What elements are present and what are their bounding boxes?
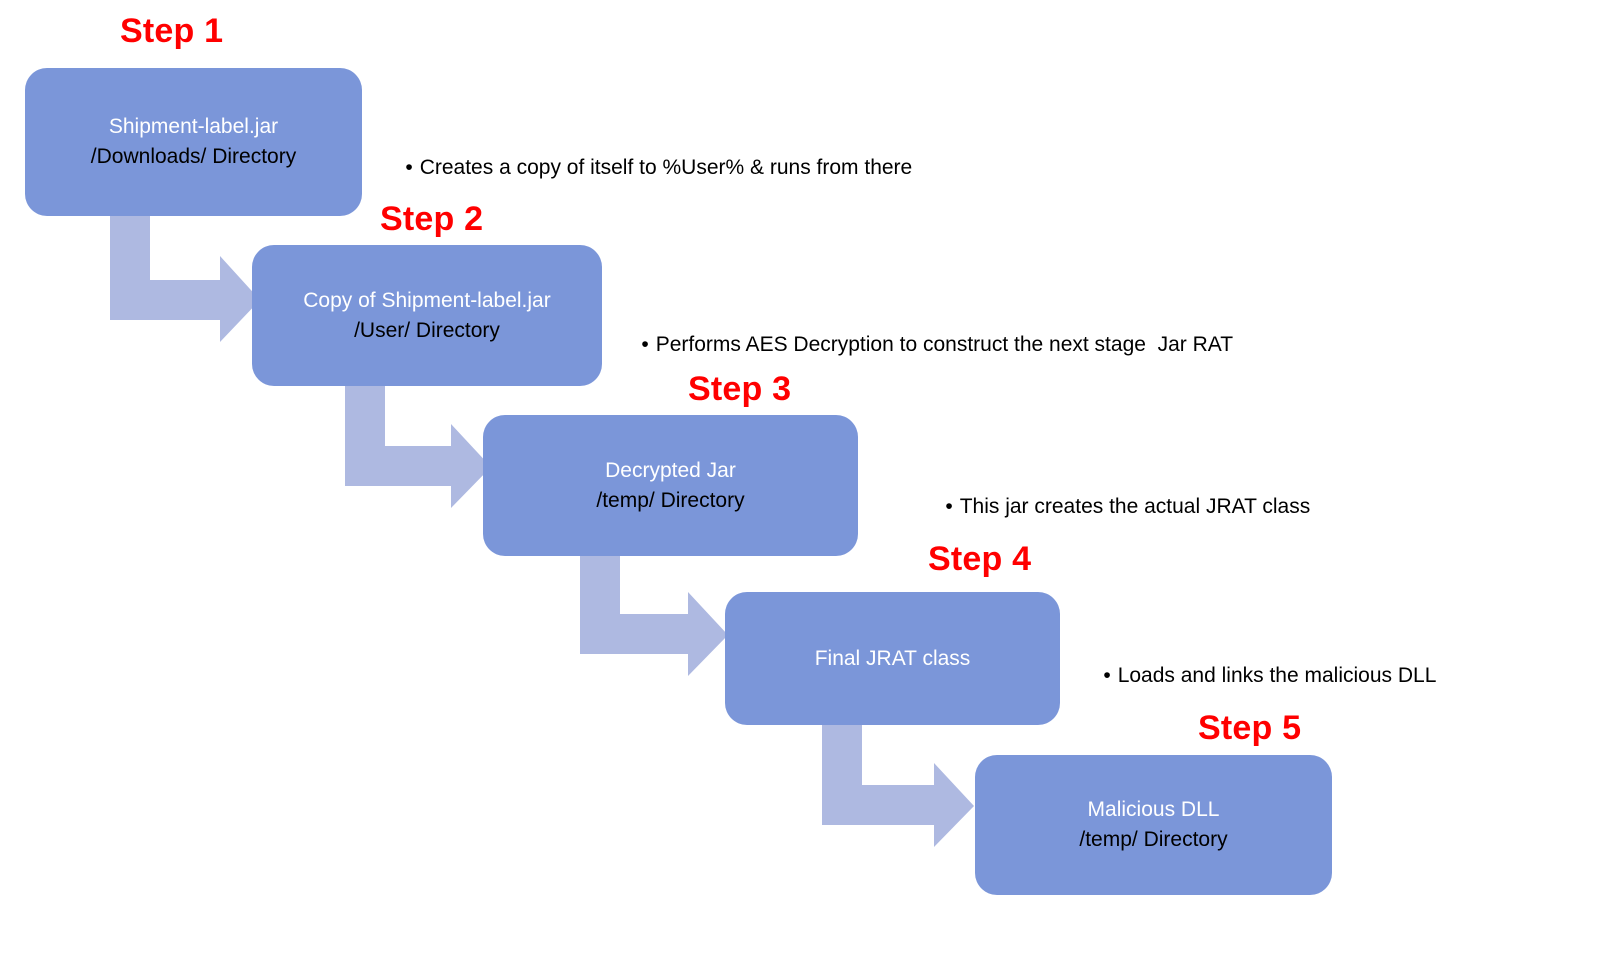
bullet-icon-4: • xyxy=(1103,663,1110,688)
node-box-step-1[interactable]: Shipment-label.jar /Downloads/ Directory xyxy=(25,68,362,216)
step-label-3: Step 3 xyxy=(688,372,791,406)
bullet-icon-3: • xyxy=(945,494,952,519)
connector-arrow-2-to-3 xyxy=(345,386,491,508)
node-box-step-4[interactable]: Final JRAT class xyxy=(725,592,1060,725)
note-step-3: •This jar creates the actual JRAT class xyxy=(922,469,1310,545)
step-label-5: Step 5 xyxy=(1198,711,1301,745)
note-text-step-4: Loads and links the malicious DLL xyxy=(1118,664,1437,687)
node-title-step-2: Copy of Shipment-label.jar xyxy=(303,286,550,316)
connector-arrow-4-to-5 xyxy=(822,725,974,847)
step-label-1: Step 1 xyxy=(120,14,223,48)
node-title-step-5: Malicious DLL xyxy=(1088,795,1220,825)
step-label-2: Step 2 xyxy=(380,202,483,236)
diagram-canvas: Step 1 Shipment-label.jar /Downloads/ Di… xyxy=(0,0,1600,958)
note-step-4: •Loads and links the malicious DLL xyxy=(1080,638,1436,714)
node-subtitle-step-2: /User/ Directory xyxy=(354,316,500,346)
note-step-1: •Creates a copy of itself to %User% & ru… xyxy=(382,130,912,206)
node-title-step-1: Shipment-label.jar xyxy=(109,112,278,142)
step-label-4: Step 4 xyxy=(928,542,1031,576)
node-title-step-4: Final JRAT class xyxy=(815,644,971,674)
bullet-icon-1: • xyxy=(405,155,412,180)
note-text-step-3: This jar creates the actual JRAT class xyxy=(960,495,1311,518)
connector-arrow-1-to-2 xyxy=(110,216,260,342)
node-subtitle-step-5: /temp/ Directory xyxy=(1079,825,1227,855)
node-subtitle-step-1: /Downloads/ Directory xyxy=(91,142,296,172)
bullet-icon-2: • xyxy=(641,332,648,357)
node-box-step-2[interactable]: Copy of Shipment-label.jar /User/ Direct… xyxy=(252,245,602,386)
note-text-step-1: Creates a copy of itself to %User% & run… xyxy=(420,156,913,179)
node-box-step-3[interactable]: Decrypted Jar /temp/ Directory xyxy=(483,415,858,556)
node-title-step-3: Decrypted Jar xyxy=(605,456,736,486)
note-text-step-2: Performs AES Decryption to construct the… xyxy=(656,333,1233,356)
node-box-step-5[interactable]: Malicious DLL /temp/ Directory xyxy=(975,755,1332,895)
connector-arrow-3-to-4 xyxy=(580,556,728,676)
node-subtitle-step-3: /temp/ Directory xyxy=(596,486,744,516)
